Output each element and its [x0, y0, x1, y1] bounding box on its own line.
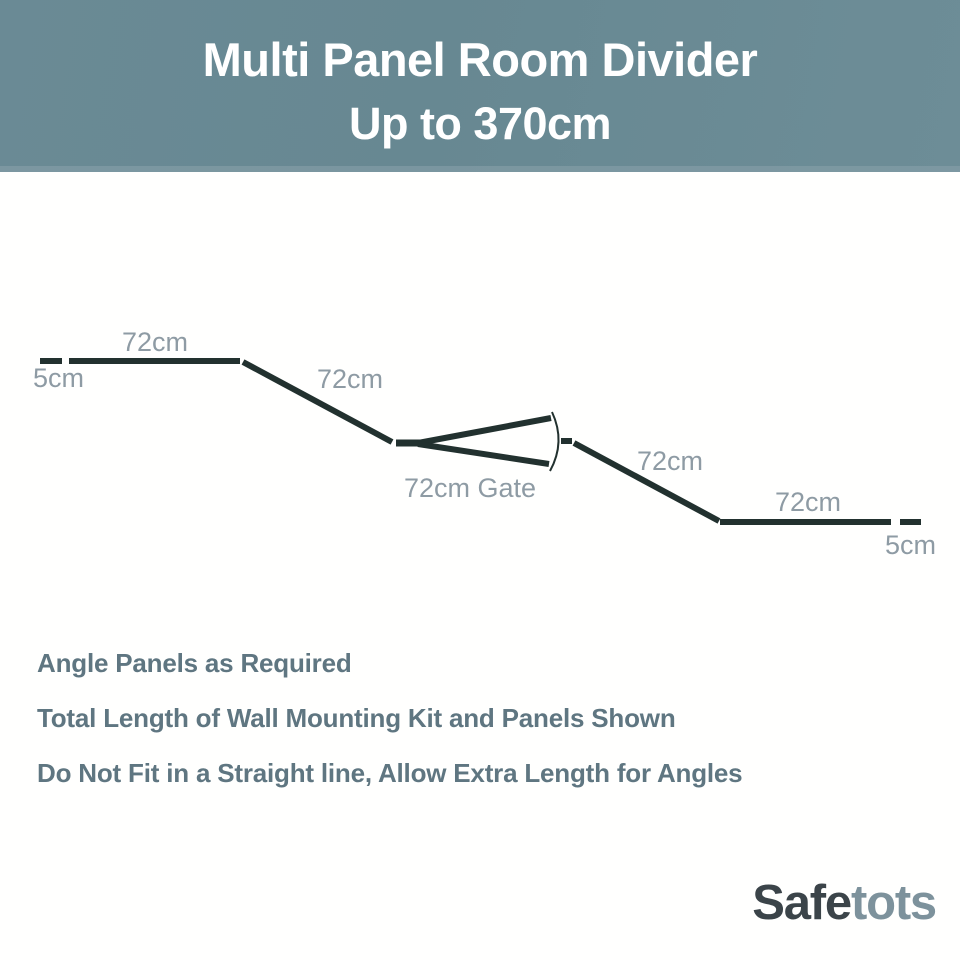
label-left-wall-mount: 5cm: [33, 363, 84, 393]
notes-block: Angle Panels as Required Total Length of…: [37, 636, 937, 801]
label-gate: 72cm Gate: [404, 473, 536, 503]
label-right-wall-mount: 5cm: [885, 530, 936, 560]
page-subtitle: Up to 370cm: [0, 98, 960, 150]
brand-logo-safe: Safe: [752, 876, 851, 930]
brand-logo: Safetots: [752, 875, 936, 931]
note-line-1: Angle Panels as Required: [37, 636, 937, 691]
product-spec-graphic: Multi Panel Room Divider Up to 370cm: [0, 0, 960, 960]
gate-leaf-upper: [418, 418, 551, 443]
note-line-2: Total Length of Wall Mounting Kit and Pa…: [37, 691, 937, 746]
page-title: Multi Panel Room Divider: [0, 33, 960, 87]
panel-layout-diagram: 5cm 72cm 72cm 72cm Gate 72cm 72cm 5cm: [0, 172, 960, 612]
brand-logo-tots: tots: [851, 876, 936, 930]
header-banner: Multi Panel Room Divider Up to 370cm: [0, 0, 960, 172]
label-panel-4: 72cm: [775, 487, 841, 517]
label-panel-3: 72cm: [637, 446, 703, 476]
panel-layout-svg: 5cm 72cm 72cm 72cm Gate 72cm 72cm 5cm: [0, 172, 960, 612]
label-panel-2: 72cm: [317, 364, 383, 394]
label-panel-1: 72cm: [122, 327, 188, 357]
note-line-3: Do Not Fit in a Straight line, Allow Ext…: [37, 746, 937, 801]
gate-leaf-lower: [418, 444, 549, 464]
